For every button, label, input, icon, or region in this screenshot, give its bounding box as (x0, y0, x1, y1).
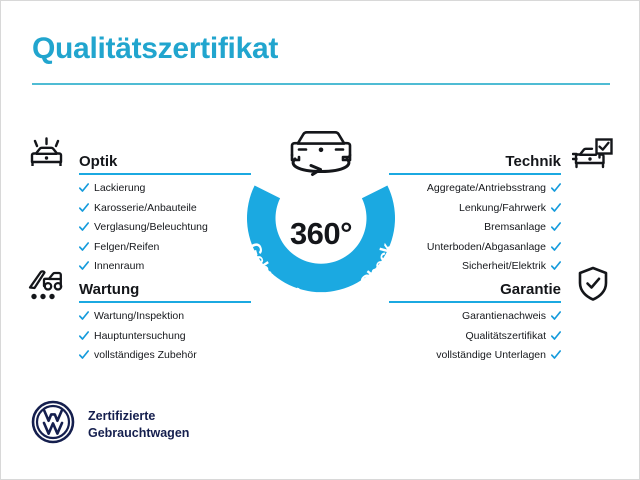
certificate-page: Qualitätszertifikat (0, 0, 640, 480)
list-item: vollständige Unterlagen (365, 350, 561, 361)
check-icon (551, 350, 561, 360)
footer-line-1: Zertifizierte (88, 409, 155, 423)
checklist-garantie: Garantienachweis Qualitätszertifikat vol… (365, 311, 561, 361)
footer-brand: Zertifizierte Gebrauchtwagen (31, 400, 189, 449)
list-item-label: vollständige Unterlagen (436, 350, 546, 361)
list-item: Hauptuntersuchung (79, 331, 275, 342)
list-item-label: Hauptuntersuchung (94, 331, 186, 342)
check-icon (79, 222, 89, 232)
car-shine-icon (25, 135, 69, 175)
list-item-label: Karosserie/Anbauteile (94, 203, 197, 214)
section-underline-optik (79, 173, 251, 175)
check-icon (551, 311, 561, 321)
list-item-label: Aggregate/Antriebsstrang (427, 183, 546, 194)
list-item: Qualitätszertifikat (365, 331, 561, 342)
check-icon (79, 350, 89, 360)
check-icon (79, 311, 89, 321)
check-icon (79, 242, 89, 252)
check-icon (551, 331, 561, 341)
list-item-label: Verglasung/Beleuchtung (94, 222, 208, 233)
list-item-label: Unterboden/Abgasanlage (427, 242, 546, 253)
check-icon (551, 242, 561, 252)
car-checkbox-icon (571, 135, 615, 175)
check-icon (79, 331, 89, 341)
check-icon (551, 183, 561, 193)
check-icon (551, 203, 561, 213)
list-item-label: Lackierung (94, 183, 145, 194)
list-item-label: Garantienachweis (462, 311, 546, 322)
check-icon (551, 222, 561, 232)
page-title: Qualitätszertifikat (32, 32, 278, 66)
list-item-label: Wartung/Inspektion (94, 311, 184, 322)
list-item: vollständiges Zubehör (79, 350, 275, 361)
wrench-car-icon (25, 263, 69, 303)
title-divider (32, 83, 610, 85)
list-item-label: Lenkung/Fahrwerk (459, 203, 546, 214)
list-item-label: vollständiges Zubehör (94, 350, 197, 361)
list-item-label: Qualitätszertifikat (465, 331, 546, 342)
check-icon (79, 203, 89, 213)
list-item-label: Bremsanlage (484, 222, 546, 233)
section-underline-garantie (389, 301, 561, 303)
footer-line-2: Gebrauchtwagen (88, 426, 189, 440)
badge-center-label: 360° (230, 216, 412, 252)
list-item-label: Felgen/Reifen (94, 242, 159, 253)
shield-check-icon (571, 263, 615, 303)
badge-360-gebrauchtwagen-check: Gebrauchtwagen-Check 360° (230, 113, 412, 313)
footer-brand-text: Zertifizierte Gebrauchtwagen (88, 408, 189, 442)
volkswagen-logo (31, 400, 75, 449)
checklist-wartung: Wartung/Inspektion Hauptuntersuchung vol… (79, 311, 275, 361)
section-underline-wartung (79, 301, 251, 303)
section-underline-technik (389, 173, 561, 175)
check-icon (79, 183, 89, 193)
